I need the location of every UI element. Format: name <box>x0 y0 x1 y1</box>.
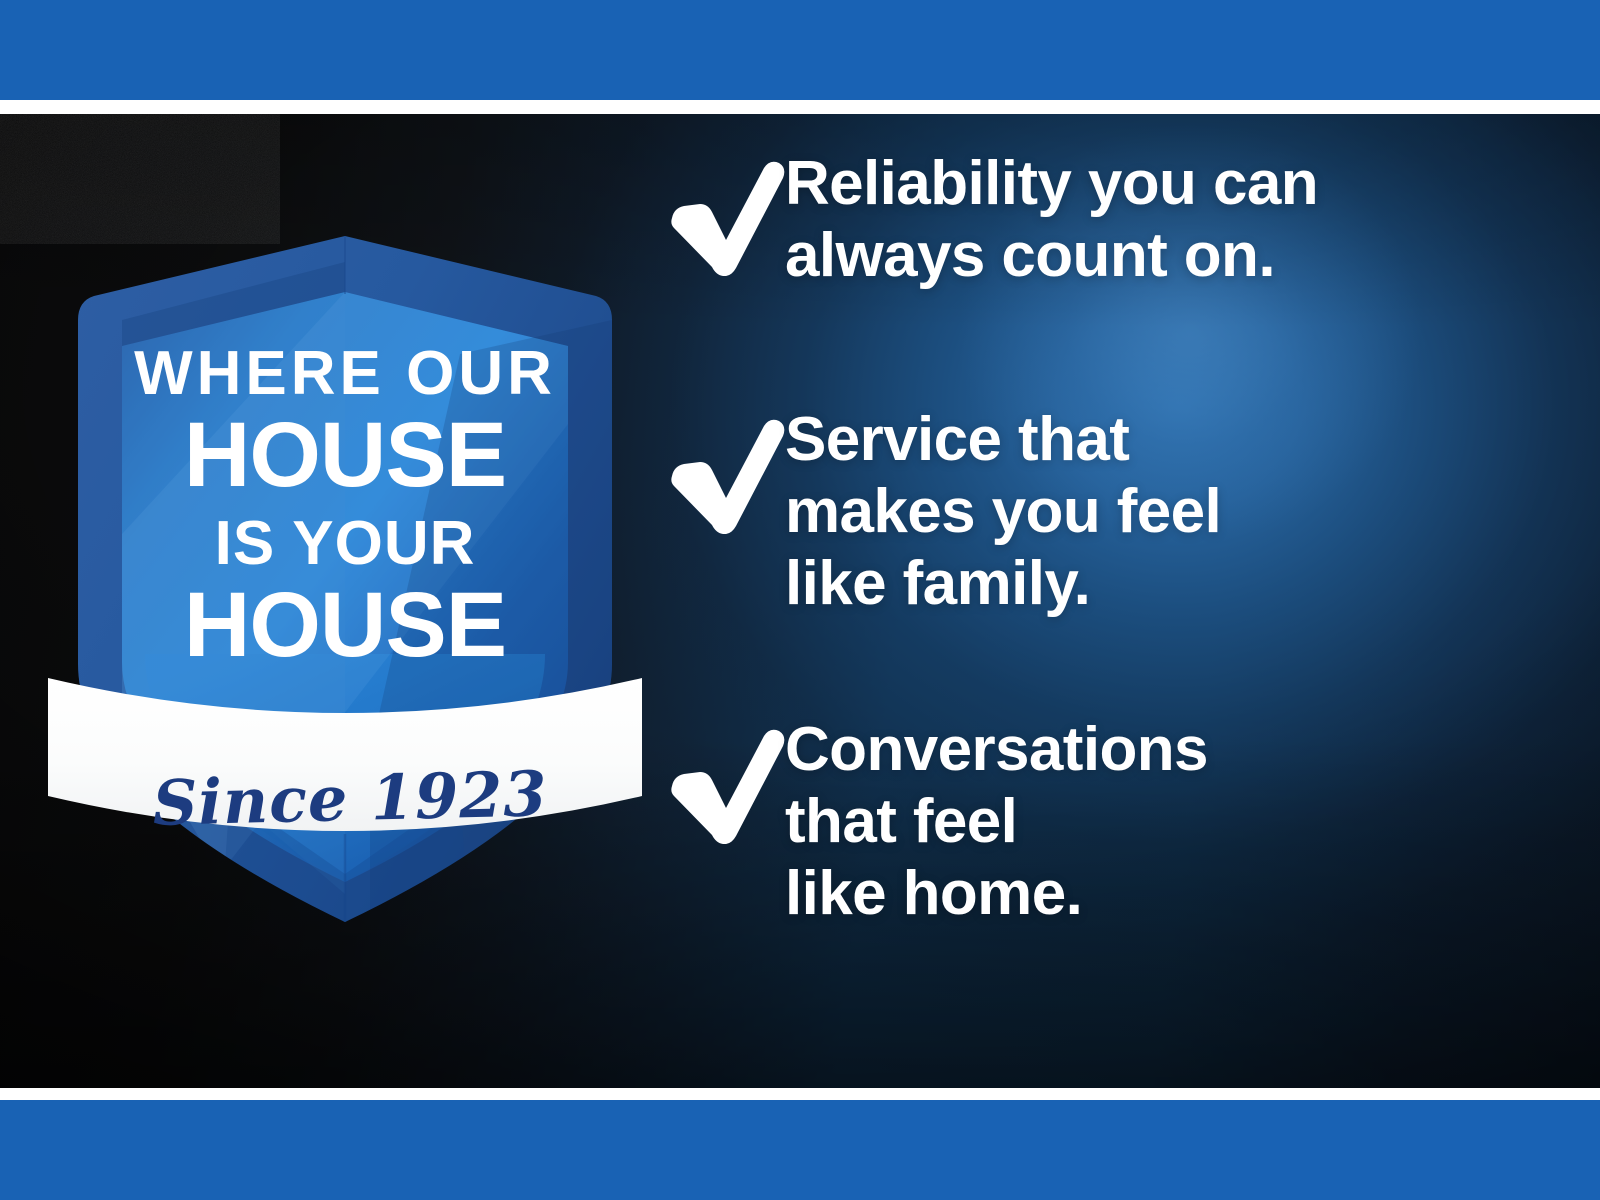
brand-bar-bottom <box>0 1100 1600 1200</box>
list-item: Reliability you can always count on. <box>660 146 1318 292</box>
shield-line-4: HOUSE <box>184 574 506 676</box>
grain-texture-overlay-fine <box>0 114 280 244</box>
poster-canvas: WHERE OUR HOUSE IS YOUR HOUSE Since 1923 <box>0 0 1600 1200</box>
shield-line-2: HOUSE <box>184 404 506 506</box>
poster-stage: WHERE OUR HOUSE IS YOUR HOUSE Since 1923 <box>0 114 1600 1088</box>
list-item-label: Service that makes you feel like family. <box>785 404 1221 620</box>
shield-line-1: WHERE OUR <box>134 339 556 408</box>
banner-script-text: Since 1923 <box>149 757 551 840</box>
shield-emblem: WHERE OUR HOUSE IS YOUR HOUSE Since 1923 <box>40 234 660 934</box>
list-item: Conversations that feel like home. <box>660 714 1208 930</box>
shield-line-3: IS YOUR <box>215 509 476 578</box>
check-icon <box>660 404 785 534</box>
list-item-label: Reliability you can always count on. <box>785 146 1318 292</box>
list-item-label: Conversations that feel like home. <box>785 714 1208 930</box>
check-icon <box>660 146 785 276</box>
benefits-checklist: Reliability you can always count on. Ser… <box>660 114 1560 1088</box>
list-item: Service that makes you feel like family. <box>660 404 1221 620</box>
brand-bar-top <box>0 0 1600 100</box>
check-icon <box>660 714 785 844</box>
